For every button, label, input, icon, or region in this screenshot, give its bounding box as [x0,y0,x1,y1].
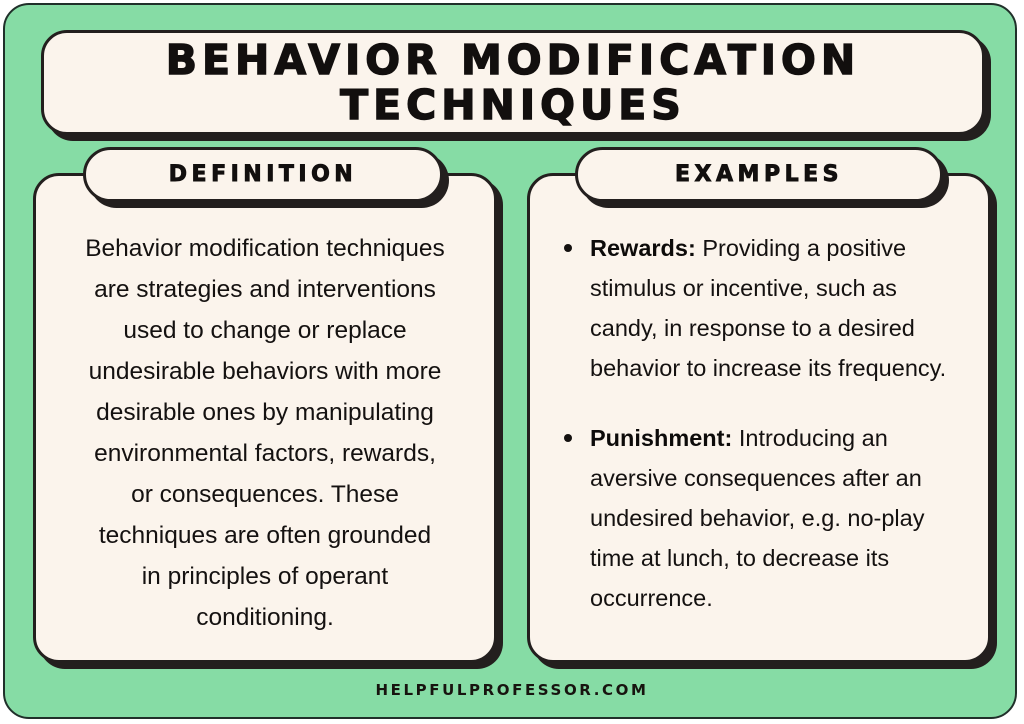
bullet-icon [564,434,572,442]
definition-card: Behavior modification techniques are str… [33,173,497,663]
definition-line: techniques are often grounded [66,515,464,556]
bullet-icon [564,244,572,252]
footer-watermark: helpfulprofessor.com [5,681,1017,699]
definition-header-label: Definition [169,162,357,187]
definition-line: conditioning. [66,597,464,638]
definition-line: are strategies and interventions [66,269,464,310]
examples-list: Rewards: Providing a positive stimulus o… [556,228,962,618]
definition-line: Behavior modification techniques [66,228,464,269]
title-card: Behavior Modification Techniques [41,30,985,135]
example-term: Punishment: [590,425,739,451]
definition-line: environmental factors, rewards, [66,433,464,474]
definition-line: desirable ones by manipulating [66,392,464,433]
list-item: Punishment: Introducing an aversive cons… [556,418,962,618]
examples-header-pill: Examples [575,147,943,202]
examples-header-label: Examples [675,162,843,187]
definition-line: undesirable behaviors with more [66,351,464,392]
definition-line: or consequences. These [66,474,464,515]
examples-card: Rewards: Providing a positive stimulus o… [527,173,991,663]
page-title: Behavior Modification Techniques [68,38,958,127]
list-item: Rewards: Providing a positive stimulus o… [556,228,962,388]
example-description: Introducing an aversive consequences aft… [590,425,924,611]
definition-line: used to change or replace [66,310,464,351]
poster-frame: Behavior Modification Techniques Definit… [3,3,1017,719]
definition-line: in principles of operant [66,556,464,597]
definition-text: Behavior modification techniques are str… [62,228,468,638]
example-term: Rewards: [590,235,702,261]
definition-header-pill: Definition [83,147,443,202]
